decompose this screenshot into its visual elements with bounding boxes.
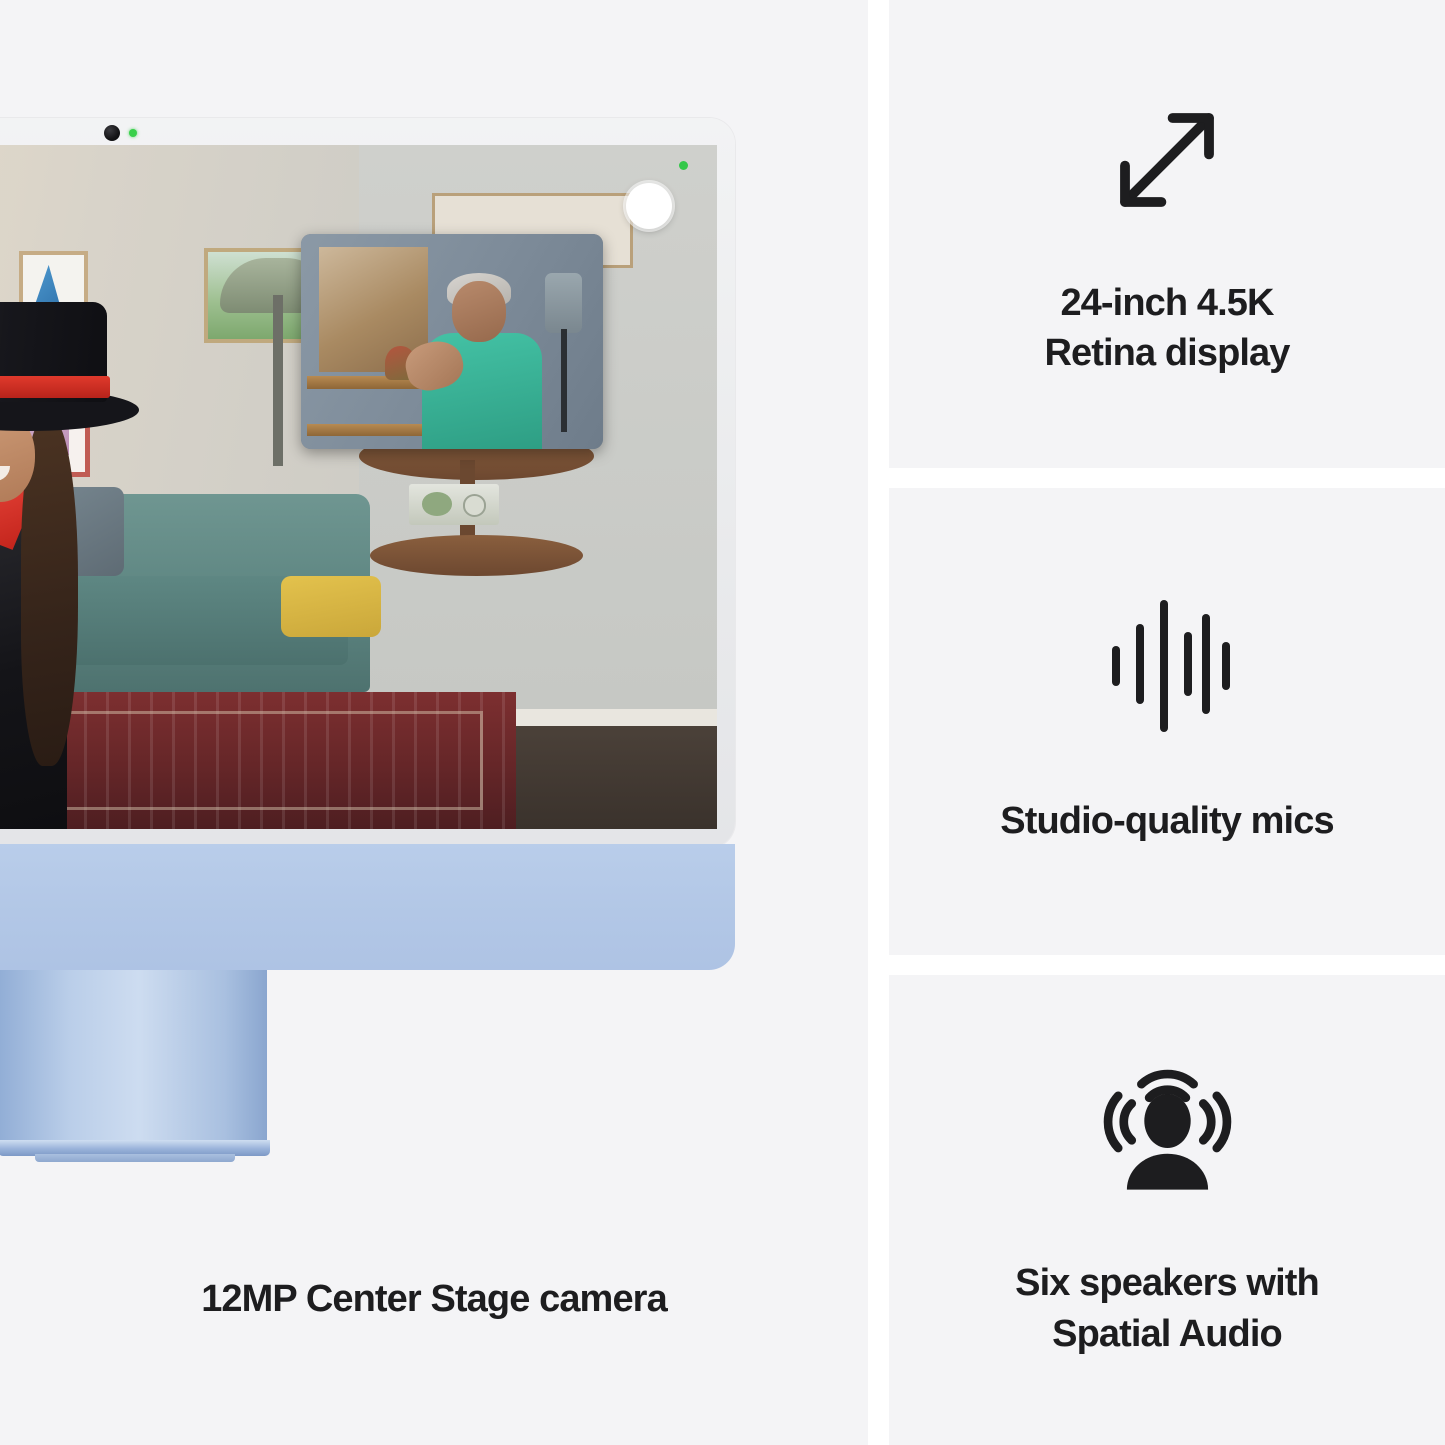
pip-lamp-pole bbox=[561, 329, 567, 432]
camera-feature-caption: 12MP Center Stage camera bbox=[0, 1278, 868, 1321]
girl-magician bbox=[0, 302, 275, 829]
expand-diagonal-arrows-icon bbox=[1097, 90, 1237, 230]
pip-person-face bbox=[452, 281, 506, 341]
imac-stand-foot bbox=[35, 1154, 235, 1162]
facetime-video-scene bbox=[0, 145, 717, 829]
feature-card-display: 24-inch 4.5K Retina display bbox=[889, 0, 1445, 468]
feature-card-speakers-label: Six speakers with Spatial Audio bbox=[1015, 1258, 1319, 1358]
camera-feature-panel: 12MP Center Stage camera bbox=[0, 0, 868, 1445]
feature-card-mics: Studio-quality mics bbox=[889, 488, 1445, 955]
vintage-radio bbox=[409, 484, 499, 525]
picture-in-picture-window[interactable] bbox=[301, 234, 603, 449]
pip-lamp-shade bbox=[545, 273, 581, 333]
feature-card-display-label: 24-inch 4.5K Retina display bbox=[1044, 278, 1289, 378]
imac-chin bbox=[0, 844, 735, 970]
camera-active-indicator-icon bbox=[129, 129, 137, 137]
feature-cards-column: 24-inch 4.5K Retina display Studio-quali… bbox=[889, 0, 1445, 1445]
audio-waveform-icon bbox=[1102, 596, 1232, 736]
side-table-lower-shelf bbox=[370, 535, 583, 576]
imac-device bbox=[0, 118, 735, 973]
spatial-audio-person-icon bbox=[1095, 1061, 1240, 1206]
feature-grid-page: 12MP Center Stage camera 24-inch 4.5K Re… bbox=[0, 0, 1445, 1445]
top-hat-red-band bbox=[0, 376, 110, 398]
front-camera-icon bbox=[104, 125, 120, 141]
yellow-cushion bbox=[281, 576, 382, 638]
feature-card-mics-label: Studio-quality mics bbox=[1000, 796, 1333, 846]
imac-bezel bbox=[0, 118, 735, 848]
imac-display bbox=[0, 145, 717, 829]
feature-card-speakers: Six speakers with Spatial Audio bbox=[889, 975, 1445, 1445]
pip-shelf-lower bbox=[307, 424, 428, 437]
imac-stand-neck bbox=[0, 970, 267, 1155]
